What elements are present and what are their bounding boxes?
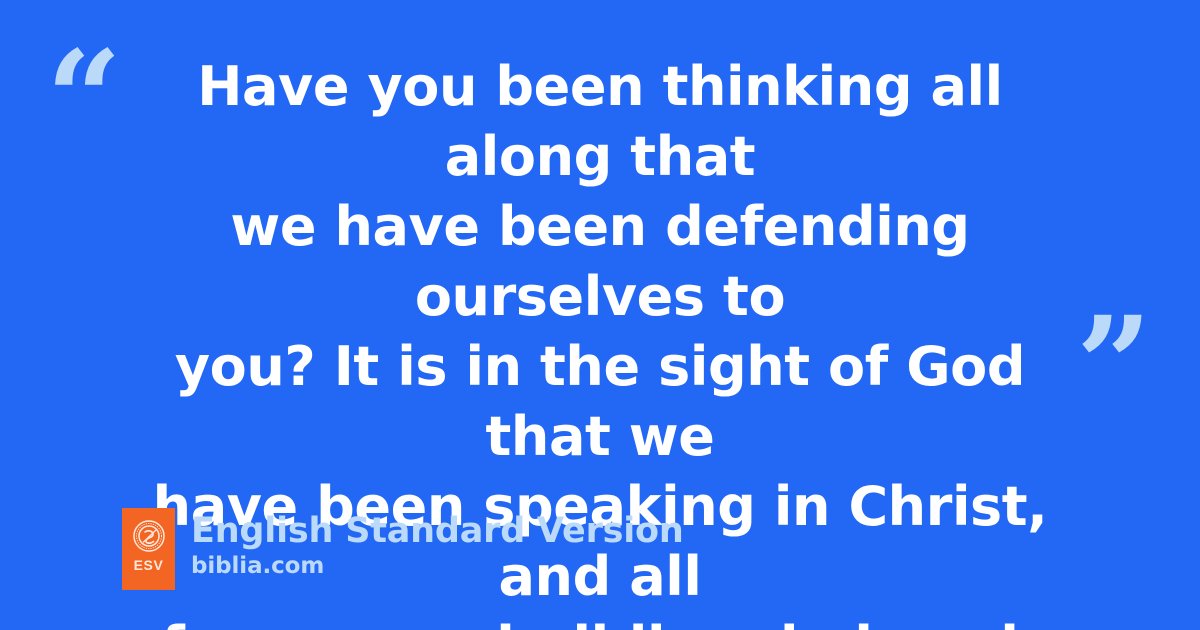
attribution-text: English Standard Version biblia.com [191, 508, 684, 580]
bible-version-name: English Standard Version [191, 510, 684, 552]
attribution: ESV English Standard Version biblia.com [122, 508, 684, 590]
close-quote-icon: ” [1076, 300, 1152, 432]
esv-logo: ESV [122, 508, 175, 590]
bible-verse-card: “ Have you been thinking all along that … [0, 0, 1200, 630]
esv-seal-icon [133, 520, 165, 552]
site-url[interactable]: biblia.com [191, 552, 684, 580]
esv-abbreviation: ESV [122, 557, 175, 573]
